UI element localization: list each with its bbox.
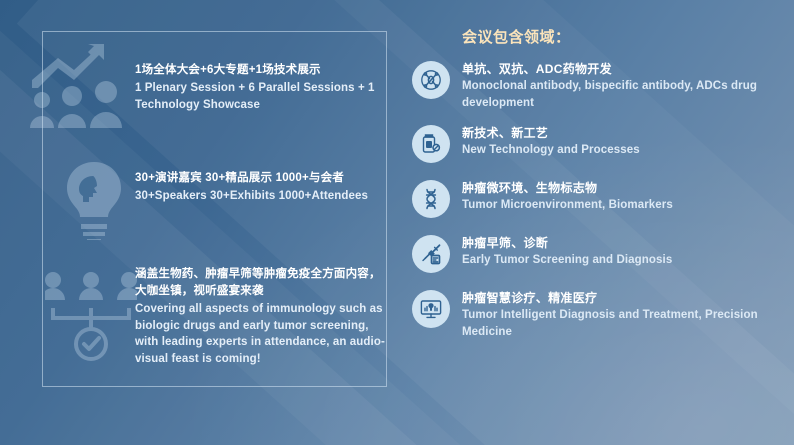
topic-cn-precision: 肿瘤智慧诊疗、精准医疗 [462, 289, 784, 307]
dna-helix-icon [412, 180, 450, 218]
topic-en-antibody: Monoclonal antibody, bispecific antibody… [462, 78, 784, 112]
monitor-diagnostics-icon [412, 290, 450, 328]
topic-text-screening: 肿瘤早筛、诊断 Early Tumor Screening and Diagno… [462, 233, 672, 269]
people-network-check-icon [45, 270, 137, 367]
highlight-text-coverage: 涵盖生物药、肿瘤早筛等肿瘤免疫全方面内容，大咖坐镇，视听盛宴来袭 Coverin… [135, 266, 385, 367]
topic-item-precision[interactable]: 肿瘤智慧诊疗、精准医疗 Tumor Intelligent Diagnosis … [412, 288, 784, 341]
antibody-molecule-icon [412, 61, 450, 99]
topic-item-screening[interactable]: 肿瘤早筛、诊断 Early Tumor Screening and Diagno… [412, 233, 784, 277]
topic-cn-microenvironment: 肿瘤微环境、生物标志物 [462, 179, 673, 197]
highlight-cn-coverage: 涵盖生物药、肿瘤早筛等肿瘤免疫全方面内容，大咖坐镇，视听盛宴来袭 [135, 266, 385, 300]
highlight-cn-attendance: 30+演讲嘉宾 30+精品展示 1000+与会者 [135, 170, 385, 187]
highlight-cn-sessions: 1场全体大会+6大专题+1场技术展示 [135, 62, 385, 79]
topic-item-technology[interactable]: 新技术、新工艺 New Technology and Processes [412, 123, 784, 167]
topic-en-screening: Early Tumor Screening and Diagnosis [462, 252, 672, 269]
topic-en-microenvironment: Tumor Microenvironment, Biomarkers [462, 197, 673, 214]
highlight-en-coverage: Covering all aspects of immunology such … [135, 301, 385, 367]
topic-cn-screening: 肿瘤早筛、诊断 [462, 234, 672, 252]
topic-en-precision: Tumor Intelligent Diagnosis and Treatmen… [462, 307, 784, 341]
topics-heading: 会议包含领域： [462, 26, 784, 47]
highlight-en-attendance: 30+Speakers 30+Exhibits 1000+Attendees [135, 188, 385, 205]
topic-en-technology: New Technology and Processes [462, 142, 640, 159]
conference-topics-column: 会议包含领域： 单抗、双抗、ADC药物开发 Monoclonal antibod… [412, 18, 784, 352]
topic-text-technology: 新技术、新工艺 New Technology and Processes [462, 123, 640, 159]
highlight-text-sessions: 1场全体大会+6大专题+1场技术展示 1 Plenary Session + 6… [135, 62, 385, 113]
topic-text-precision: 肿瘤智慧诊疗、精准医疗 Tumor Intelligent Diagnosis … [462, 288, 784, 341]
topic-cn-antibody: 单抗、双抗、ADC药物开发 [462, 60, 784, 78]
medicine-bottle-icon [412, 125, 450, 163]
topic-text-microenvironment: 肿瘤微环境、生物标志物 Tumor Microenvironment, Biom… [462, 178, 673, 214]
left-highlights-panel: 1场全体大会+6大专题+1场技术展示 1 Plenary Session + 6… [42, 31, 387, 387]
highlight-text-attendance: 30+演讲嘉宾 30+精品展示 1000+与会者 30+Speakers 30+… [135, 170, 385, 205]
topic-text-antibody: 单抗、双抗、ADC药物开发 Monoclonal antibody, bispe… [462, 59, 784, 112]
topic-item-microenvironment[interactable]: 肿瘤微环境、生物标志物 Tumor Microenvironment, Biom… [412, 178, 784, 222]
lightbulb-head-icon [63, 160, 125, 245]
topic-item-antibody[interactable]: 单抗、双抗、ADC药物开发 Monoclonal antibody, bispe… [412, 59, 784, 112]
highlight-en-sessions: 1 Plenary Session + 6 Parallel Sessions … [135, 80, 385, 113]
syringe-report-icon [412, 235, 450, 273]
topic-cn-technology: 新技术、新工艺 [462, 124, 640, 142]
growth-chart-people-icon [28, 42, 124, 133]
slide-root: 1场全体大会+6大专题+1场技术展示 1 Plenary Session + 6… [0, 0, 794, 445]
